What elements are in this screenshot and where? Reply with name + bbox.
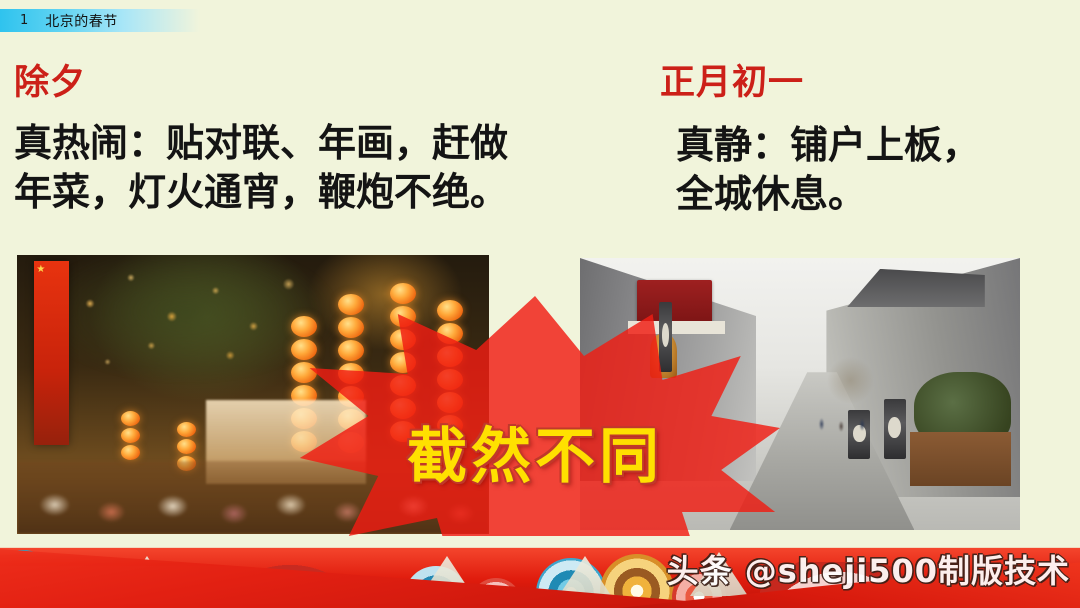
body-line: 年菜，灯火通宵，鞭炮不绝。 [14,168,586,217]
body-line: 全城休息。 [676,170,1026,219]
slide-canvas: 1 北京的春节 除夕 真热闹：贴对联、年画，赶做 年菜，灯火通宵，鞭炮不绝。 正… [0,0,1080,608]
photo-right-brick-planter [910,432,1011,486]
header-title: 北京的春节 [45,11,118,31]
photo-left-chinese-flag [34,261,69,445]
photo-right-bare-tree [826,356,874,405]
section-body-chuxi: 真热闹：贴对联、年画，赶做 年菜，灯火通宵，鞭炮不绝。 [14,119,586,216]
photo-right-street-lamp [659,302,672,373]
starburst-label: 截然不同 [290,408,780,495]
watermark-text: 头条 @sheji500制版技术 [667,546,1070,592]
body-line: 真热闹：贴对联、年画，赶做 [14,119,586,168]
column-chuxi: 除夕 真热闹：贴对联、年画，赶做 年菜，灯火通宵，鞭炮不绝。 [14,64,574,216]
photo-right-street-lamp [884,399,906,459]
column-zhengyuechuyi: 正月初一 真静：铺户上板， 全城休息。 [660,64,1070,218]
photo-left-lantern-string [121,411,147,462]
slide-header-tab: 1 北京的春节 [0,9,200,32]
section-body-zhengyuechuyi: 真静：铺户上板， 全城休息。 [676,121,1026,218]
section-title-chuxi: 除夕 [14,64,574,103]
photo-right-distant-pedestrians [809,408,879,435]
body-line: 真静：铺户上板， [676,121,1026,170]
section-title-zhengyuechuyi: 正月初一 [660,64,1070,103]
header-index: 1 [20,13,28,28]
